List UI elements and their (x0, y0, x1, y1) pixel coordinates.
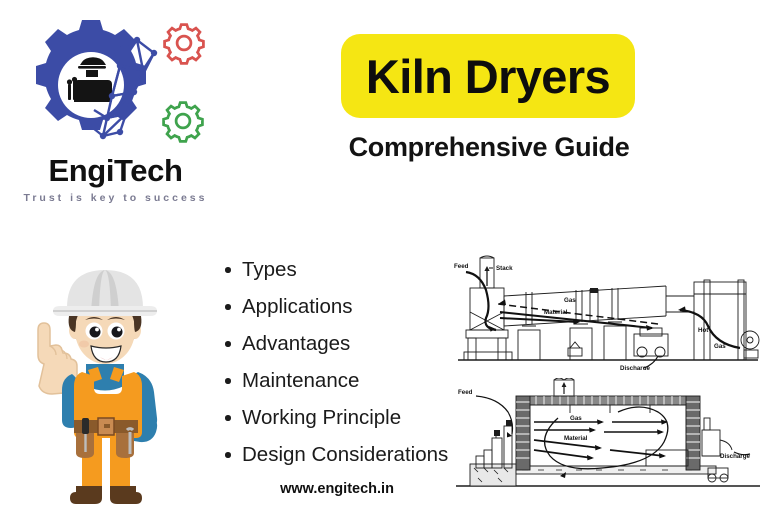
list-item: Design Considerations (222, 440, 474, 477)
hard-hat-icon (53, 270, 157, 316)
rotary-kiln-dryer-counterflow-diagram: Feed Stack Gas Material Hot Gas Discharg… (452, 252, 764, 370)
diagram-label-gas-2: Gas (714, 343, 726, 350)
diagram2-label-material: Material (564, 435, 588, 442)
kiln-dryer-sectional-diagram: Feed Gas Material Discharge (452, 378, 764, 492)
construction-worker-pointing-icon (12, 246, 198, 508)
list-item: Applications (222, 292, 474, 329)
list-item: Maintenance (222, 366, 474, 403)
title-badge: Kiln Dryers (341, 34, 635, 118)
page-subtitle: Comprehensive Guide (330, 132, 648, 163)
bullet-icon (225, 304, 231, 310)
diagram-label-gas: Gas (564, 297, 576, 304)
list-item-label: Advantages (242, 332, 350, 355)
logo-mark (8, 10, 223, 155)
bullet-icon (225, 341, 231, 347)
list-item-label: Working Principle (242, 406, 401, 429)
list-item-label: Maintenance (242, 369, 359, 392)
diagram2-label-feed: Feed (458, 389, 473, 396)
diagram-label-hot: Hot (698, 327, 708, 334)
list-item: Working Principle (222, 403, 474, 440)
gear-outline-green-icon (164, 103, 203, 142)
diagram2-label-gas: Gas (570, 415, 582, 422)
bullet-icon (225, 452, 231, 458)
brand-logo-block: EngiTech Trust is key to success (8, 10, 223, 210)
bullet-icon (225, 267, 231, 273)
diagram2-label-discharge: Discharge (720, 453, 750, 460)
list-item-label: Applications (242, 295, 353, 318)
diagram-label-discharge: Discharge (620, 365, 650, 370)
website-url: www.engitech.in (212, 481, 462, 497)
diagram-label-stack: Stack (496, 265, 513, 272)
page-title: Kiln Dryers (366, 53, 610, 100)
feature-list: Types Applications Advantages Maintenanc… (222, 255, 474, 477)
list-item-label: Types (242, 258, 297, 281)
diagram-label-feed: Feed (454, 263, 469, 270)
logo-company-name: EngiTech (8, 153, 223, 189)
bullet-icon (225, 415, 231, 421)
gear-outline-red-icon (165, 25, 204, 64)
list-item-label: Design Considerations (242, 443, 448, 466)
list-item: Types (222, 255, 474, 292)
logo-tagline: Trust is key to success (8, 192, 223, 204)
diagram-label-material: Material (544, 309, 568, 316)
list-item: Advantages (222, 329, 474, 366)
bullet-icon (225, 378, 231, 384)
